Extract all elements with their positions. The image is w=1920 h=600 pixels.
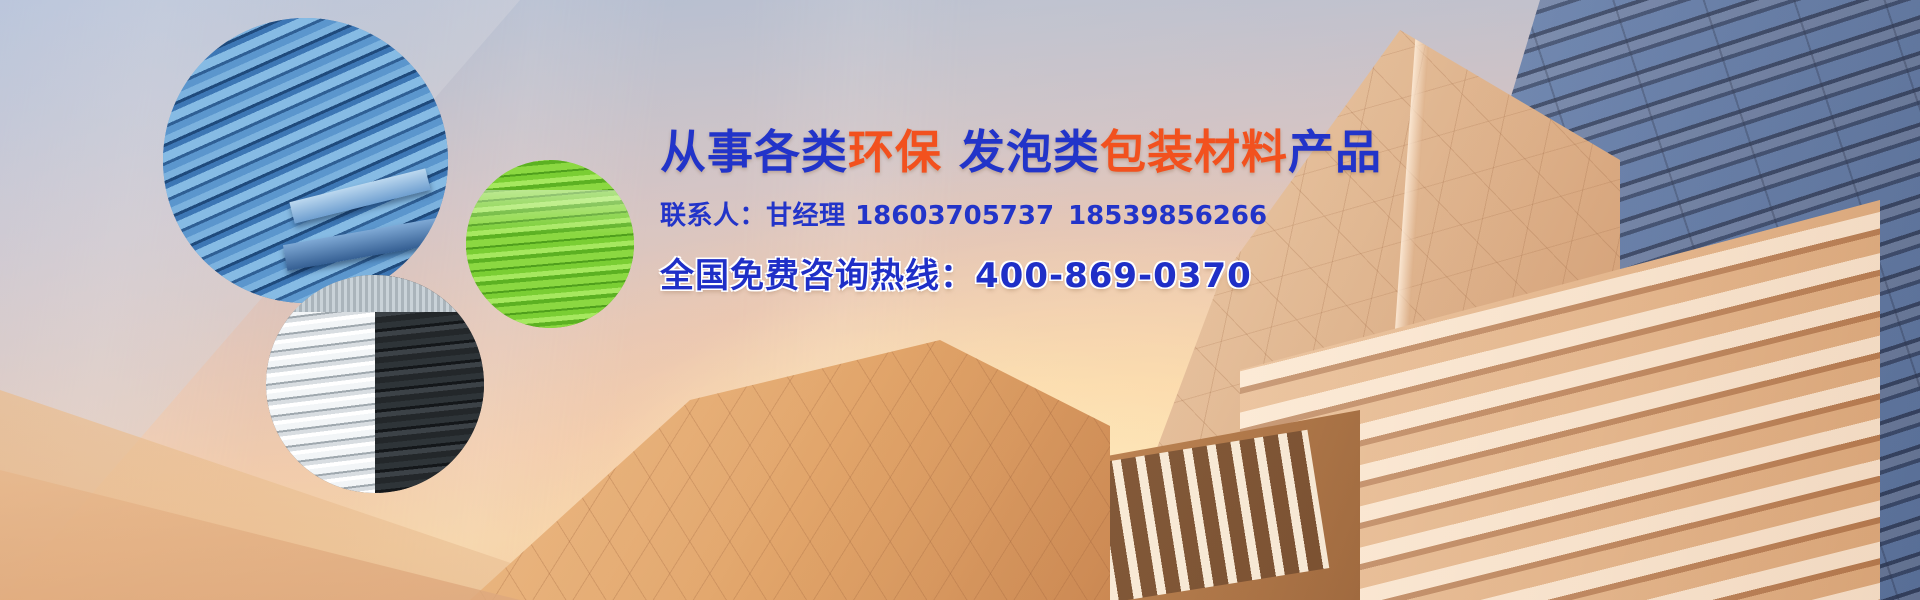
blue-foam-strips-photo: [163, 18, 448, 303]
headline: 从事各类环保 发泡类包装材料产品: [660, 128, 1280, 177]
hotline-label: 全国免费咨询热线：: [660, 256, 975, 296]
promo-banner: 从事各类环保 发泡类包装材料产品 联系人：甘经理 186037057371853…: [0, 0, 1920, 600]
green-highlight: [466, 190, 634, 234]
hotline-number[interactable]: 400-869-0370: [975, 256, 1252, 296]
headline-part-2: 发泡类: [942, 125, 1100, 179]
warehouse-roof-strip: [266, 275, 484, 312]
headline-highlight-2: 包装材料: [1100, 125, 1288, 179]
banner-copy: 从事各类环保 发泡类包装材料产品 联系人：甘经理 186037057371853…: [660, 128, 1280, 297]
headline-part-1: 从事各类: [660, 125, 848, 179]
contact-phone-primary[interactable]: 18603705737: [855, 201, 1054, 231]
headline-highlight-1: 环保: [848, 125, 942, 179]
contact-line: 联系人：甘经理 1860370573718539856266: [660, 195, 1280, 232]
contact-label: 联系人：甘经理: [660, 201, 846, 231]
green-foam-sheets-photo: [466, 160, 634, 328]
hotline-line: 全国免费咨询热线：400-869-0370: [660, 248, 1280, 297]
white-black-foam-photo: [266, 275, 484, 493]
green-sheet-texture: [466, 160, 634, 328]
contact-phone-secondary[interactable]: 18539856266: [1068, 201, 1267, 231]
headline-part-3: 产品: [1288, 125, 1382, 179]
